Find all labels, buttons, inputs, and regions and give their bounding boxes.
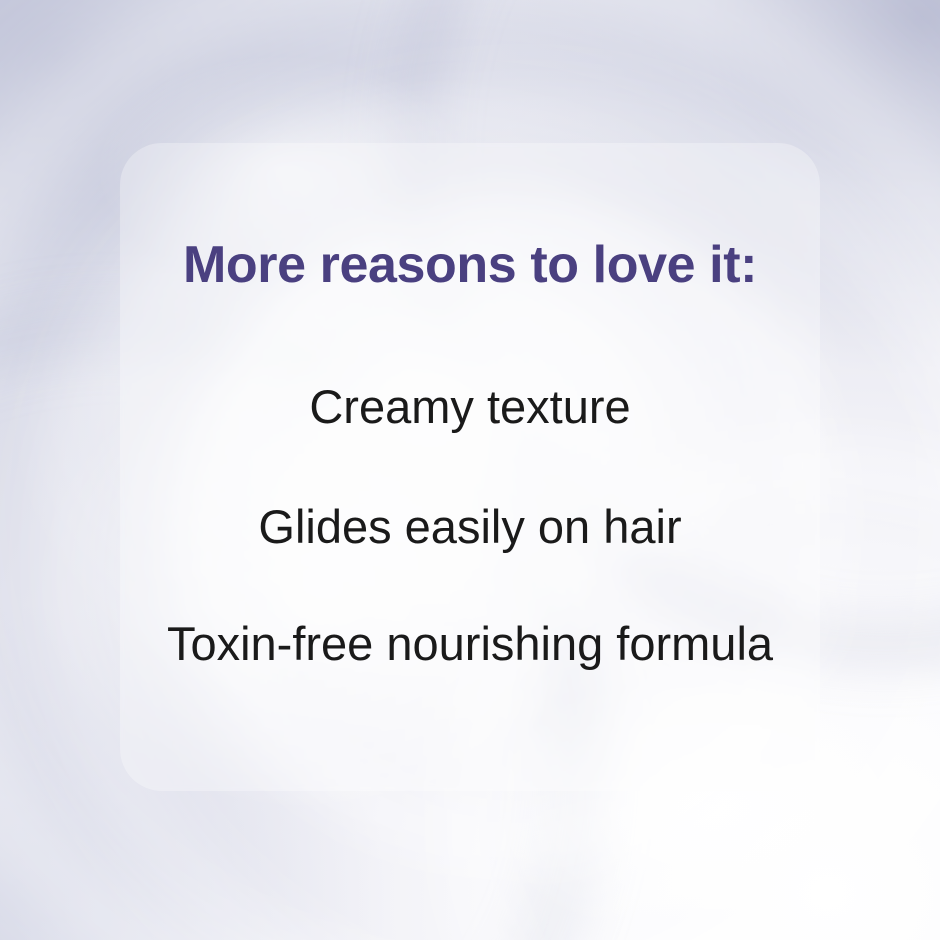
benefit-item-3: Toxin-free nourishing formula [120, 620, 820, 667]
content-card-inner: More reasons to love it: Creamy texture … [120, 143, 820, 791]
content-card: More reasons to love it: Creamy texture … [120, 143, 820, 791]
benefit-item-1: Creamy texture [120, 383, 820, 430]
benefit-item-2: Glides easily on hair [120, 503, 820, 550]
promo-poster: More reasons to love it: Creamy texture … [0, 0, 940, 940]
page-title: More reasons to love it: [120, 239, 820, 291]
